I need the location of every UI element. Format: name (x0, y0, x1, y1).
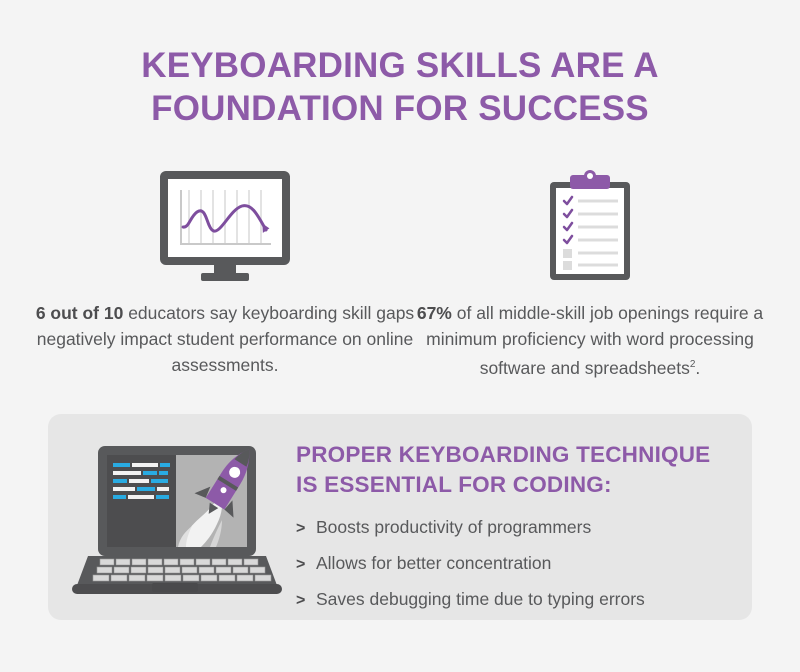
page-title-line-2: FOUNDATION FOR SUCCESS (0, 87, 800, 130)
list-item-label: Saves debugging time due to typing error… (316, 588, 645, 610)
coding-panel: PROPER KEYBOARDING TECHNIQUE IS ESSENTIA… (48, 414, 752, 620)
coding-panel-heading: PROPER KEYBOARDING TECHNIQUE IS ESSENTIA… (296, 440, 736, 500)
list-item-label: Boosts productivity of programmers (316, 516, 591, 538)
coding-benefits-list: > Boosts productivity of programmers > A… (296, 516, 736, 610)
list-item: > Saves debugging time due to typing err… (296, 588, 736, 610)
chevron-right-icon: > (296, 556, 316, 574)
page-title-line-1: KEYBOARDING SKILLS ARE A (0, 44, 800, 87)
list-item: > Allows for better concentration (296, 552, 736, 574)
chevron-right-icon: > (296, 520, 316, 538)
stat-text-jobs: 67% of all middle-skill job openings req… (400, 300, 780, 381)
stat-lead-jobs: 67% (417, 303, 452, 323)
list-item-label: Allows for better concentration (316, 552, 551, 574)
list-item: > Boosts productivity of programmers (296, 516, 736, 538)
stat-block-educators: 6 out of 10 educators say keyboarding sk… (30, 165, 420, 378)
coding-panel-content: PROPER KEYBOARDING TECHNIQUE IS ESSENTIA… (296, 440, 736, 624)
coding-panel-heading-line-2: IS ESSENTIAL FOR CODING: (296, 470, 736, 500)
stat-block-jobs: 67% of all middle-skill job openings req… (400, 165, 780, 381)
stat-body-jobs-end: . (695, 358, 700, 378)
coding-panel-heading-line-1: PROPER KEYBOARDING TECHNIQUE (296, 440, 736, 470)
stat-lead-educators: 6 out of 10 (36, 303, 124, 323)
chevron-right-icon: > (296, 592, 316, 610)
monitor-chart-icon (30, 165, 420, 285)
stat-text-educators: 6 out of 10 educators say keyboarding sk… (30, 300, 420, 378)
page-title: KEYBOARDING SKILLS ARE A FOUNDATION FOR … (0, 44, 800, 130)
laptop-rocket-icon (60, 436, 290, 601)
clipboard-checklist-icon (400, 165, 780, 285)
stat-body-jobs: of all middle-skill job openings require… (426, 303, 763, 378)
